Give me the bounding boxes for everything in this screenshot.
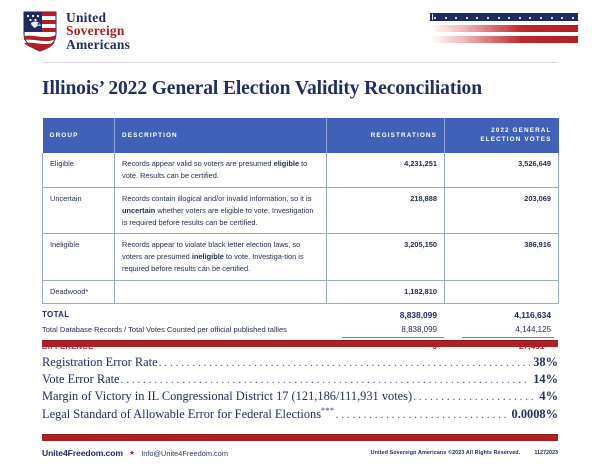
footer-copyright: United Sovereign Americans ©2023 All Rig… bbox=[371, 450, 521, 456]
totals-label: TOTAL bbox=[42, 310, 326, 319]
page-footer: Unite4Freedom.com ★ Info@Unite4Freedom.c… bbox=[42, 448, 558, 458]
rate-label: Vote Error Rate bbox=[42, 372, 120, 387]
cell-description bbox=[115, 281, 327, 304]
desc-bold: eligible bbox=[274, 159, 299, 168]
leader-dots: ........................................… bbox=[159, 355, 531, 370]
table-row: Ineligible Records appear to violate bla… bbox=[43, 234, 559, 281]
flag-stars-stripes-icon bbox=[430, 13, 578, 45]
rate-label: Margin of Victory in IL Congressional Di… bbox=[42, 389, 412, 404]
cell-registrations: 1,182,810 bbox=[327, 281, 445, 304]
cell-description: Records contain illogical and/or invalid… bbox=[115, 187, 327, 234]
page-title: Illinois’ 2022 General Election Validity… bbox=[42, 78, 562, 100]
footer-website-link[interactable]: Unite4Freedom.com bbox=[42, 448, 123, 458]
column-header-registrations: REGISTRATIONS bbox=[327, 118, 445, 153]
table-row: Eligible Records appear valid so voters … bbox=[43, 153, 559, 187]
reconciliation-table-wrapper: GROUP DESCRIPTION REGISTRATIONS 2022 GEN… bbox=[42, 118, 558, 354]
leader-dots: ........................................… bbox=[121, 372, 531, 387]
leader-dots: ........................................… bbox=[336, 407, 509, 422]
rate-label-text: Legal Standard of Allowable Error for Fe… bbox=[42, 407, 321, 421]
star-icon: ★ bbox=[129, 449, 135, 457]
cell-votes: 386,916 bbox=[445, 234, 559, 281]
cell-description: Records appear valid so voters are presu… bbox=[115, 153, 327, 187]
totals-votes: 4,116,634 bbox=[444, 310, 558, 320]
desc-bold: ineligible bbox=[192, 252, 224, 261]
cell-registrations: 4,231,251 bbox=[327, 153, 445, 187]
tally-label: Total Database Records / Total Votes Cou… bbox=[42, 325, 326, 334]
header-divider bbox=[42, 62, 558, 63]
cell-group: Uncertain bbox=[43, 187, 115, 234]
rate-row-registration-error: Registration Error Rate ................… bbox=[42, 355, 558, 372]
footer-right: United Sovereign Americans ©2023 All Rig… bbox=[371, 450, 558, 456]
totals-registrations: 8,838,099 bbox=[326, 310, 444, 320]
cell-description: Records appear to violate black letter e… bbox=[115, 234, 327, 281]
red-divider-bottom bbox=[42, 434, 558, 441]
cell-votes: 203,069 bbox=[445, 187, 559, 234]
leader-dots: ........................................… bbox=[413, 389, 536, 404]
desc-pre: Records contain illogical and/or invalid… bbox=[122, 194, 311, 203]
rate-row-legal-standard: Legal Standard of Allowable Error for Fe… bbox=[42, 406, 558, 423]
rate-value: 0.0008% bbox=[510, 407, 558, 422]
cell-registrations: 218,888 bbox=[327, 187, 445, 234]
brand-wordmark: United Sovereign Americans bbox=[66, 11, 130, 52]
desc-bold: uncertain bbox=[122, 206, 155, 215]
rate-value: 38% bbox=[531, 355, 558, 370]
column-header-votes: 2022 GENERAL ELECTION VOTES bbox=[445, 118, 559, 153]
footer-date: 11272023 bbox=[534, 450, 558, 456]
cell-group: Deadwood* bbox=[43, 281, 115, 304]
desc-pre: Records appear valid so voters are presu… bbox=[122, 159, 274, 168]
brand-line-sovereign: Sovereign bbox=[66, 24, 130, 38]
column-header-group: GROUP bbox=[43, 118, 115, 153]
column-header-votes-line1: 2022 GENERAL bbox=[491, 127, 551, 134]
cell-votes bbox=[445, 281, 559, 304]
cell-group: Eligible bbox=[43, 153, 115, 187]
rate-label: Legal Standard of Allowable Error for Fe… bbox=[42, 406, 335, 422]
footer-email-link[interactable]: Info@Unite4Freedom.com bbox=[141, 449, 228, 458]
reconciliation-table: GROUP DESCRIPTION REGISTRATIONS 2022 GEN… bbox=[42, 118, 559, 304]
cell-registrations: 3,205,150 bbox=[327, 234, 445, 281]
rate-row-vote-error: Vote Error Rate ........................… bbox=[42, 372, 558, 389]
brand-lockup: United Sovereign Americans bbox=[22, 10, 130, 52]
tally-registrations: 8,838,099 bbox=[326, 325, 444, 334]
error-rates-list: Registration Error Rate ................… bbox=[42, 355, 558, 423]
table-row: Uncertain Records contain illogical and/… bbox=[43, 187, 559, 234]
red-divider-top bbox=[42, 340, 558, 347]
cell-votes: 3,526,649 bbox=[445, 153, 559, 187]
tally-row: Total Database Records / Total Votes Cou… bbox=[42, 322, 558, 337]
totals-row: TOTAL 8,838,099 4,116,634 bbox=[42, 307, 558, 322]
rate-row-margin-of-victory: Margin of Victory in IL Congressional Di… bbox=[42, 389, 558, 406]
tally-votes: 4,144,125 bbox=[444, 325, 558, 334]
brand-line-united: United bbox=[66, 11, 130, 25]
totals-block: TOTAL 8,838,099 4,116,634 Total Database… bbox=[42, 307, 558, 354]
table-header-row: GROUP DESCRIPTION REGISTRATIONS 2022 GEN… bbox=[43, 118, 559, 153]
shield-eagle-icon bbox=[22, 10, 58, 52]
brand-line-americans: Americans bbox=[66, 38, 130, 52]
table-row: Deadwood* 1,182,810 bbox=[43, 281, 559, 304]
rate-value: 14% bbox=[531, 372, 558, 387]
column-header-votes-line2: ELECTION VOTES bbox=[480, 136, 551, 143]
page-header: United Sovereign Americans bbox=[0, 0, 600, 62]
table-body: Eligible Records appear valid so voters … bbox=[43, 153, 559, 304]
column-header-description: DESCRIPTION bbox=[115, 118, 327, 153]
totals-underline bbox=[42, 337, 558, 338]
document-page: United Sovereign Americans Illinois’ 202… bbox=[0, 0, 600, 472]
rate-label: Registration Error Rate bbox=[42, 355, 158, 370]
cell-group: Ineligible bbox=[43, 234, 115, 281]
rate-label-footnote: *** bbox=[321, 406, 335, 415]
rate-value: 4% bbox=[537, 389, 558, 404]
